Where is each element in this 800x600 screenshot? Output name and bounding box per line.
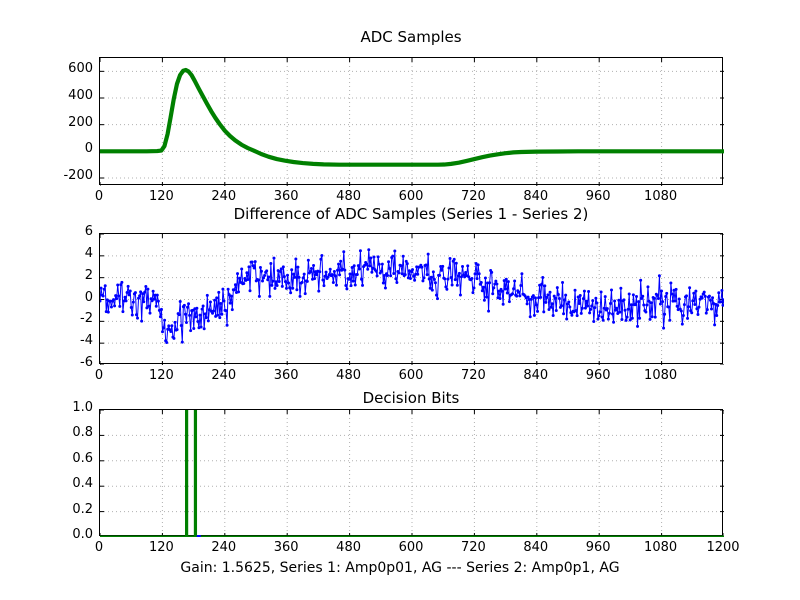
xtick-label: 120	[131, 189, 191, 204]
xtick-label: 600	[381, 540, 441, 555]
xtick-label: 840	[506, 368, 566, 383]
xtick-label: 0	[69, 368, 129, 383]
ytick-label: 0.6	[72, 451, 93, 466]
xtick-label: 1080	[631, 189, 691, 204]
decision-pulse	[186, 410, 188, 537]
ytick-label: 0.4	[72, 476, 93, 491]
plot-canvas-2	[100, 234, 724, 365]
xtick-label: 720	[443, 189, 503, 204]
ytick-label: 1.0	[72, 400, 93, 415]
xtick-label: 480	[319, 368, 379, 383]
plot-area-1	[99, 57, 723, 185]
gridlines	[100, 410, 724, 537]
xtick-label: 120	[131, 540, 191, 555]
xtick-label: 840	[506, 540, 566, 555]
plot-canvas-1	[100, 58, 724, 186]
xtick-label: 960	[568, 540, 628, 555]
ytick-label: 2	[85, 268, 93, 283]
xtick-label: 600	[381, 189, 441, 204]
subplot-title-2: Difference of ADC Samples (Series 1 - Se…	[99, 205, 723, 223]
tick-marks	[100, 410, 724, 537]
figure-xlabel: Gain: 1.5625, Series 1: Amp0p01, AG --- …	[0, 560, 800, 576]
xtick-label: 720	[443, 540, 503, 555]
gridlines	[100, 234, 724, 365]
plot-area-3	[99, 409, 723, 536]
ytick-label: 4	[85, 246, 93, 261]
ytick-label: 6	[85, 224, 93, 239]
xtick-label: 960	[568, 189, 628, 204]
ytick-label: -200	[63, 168, 93, 183]
plot-canvas-3	[100, 410, 724, 537]
subplot-title-3: Decision Bits	[99, 389, 723, 407]
xtick-label: 480	[319, 189, 379, 204]
xtick-label: 1080	[631, 368, 691, 383]
ytick-label: 200	[68, 115, 93, 130]
xtick-label: 720	[443, 368, 503, 383]
figure-canvas: ADC Samples-2000200400600012024036048060…	[0, 0, 800, 600]
xtick-label: 480	[319, 540, 379, 555]
ytick-label: 600	[68, 61, 93, 76]
ytick-label: 0	[85, 290, 93, 305]
xtick-label: 1200	[693, 540, 753, 555]
ytick-label: 0.8	[72, 425, 93, 440]
plot-area-2	[99, 233, 723, 364]
xtick-label: 0	[69, 540, 129, 555]
ytick-label: -2	[80, 311, 93, 326]
xtick-label: 1080	[631, 540, 691, 555]
subplot-title-1: ADC Samples	[99, 28, 723, 46]
ytick-label: -4	[80, 333, 93, 348]
xtick-label: 0	[69, 189, 129, 204]
ytick-label: 0.2	[72, 502, 93, 517]
decision-marker-blue	[197, 535, 201, 537]
xtick-label: 360	[256, 368, 316, 383]
xtick-label: 840	[506, 189, 566, 204]
xtick-label: 600	[381, 368, 441, 383]
xtick-label: 360	[256, 189, 316, 204]
xtick-label: 960	[568, 368, 628, 383]
xtick-label: 240	[194, 189, 254, 204]
xtick-label: 240	[194, 540, 254, 555]
ytick-label: 400	[68, 88, 93, 103]
xtick-label: 240	[194, 368, 254, 383]
ytick-label: 0	[85, 141, 93, 156]
xtick-label: 360	[256, 540, 316, 555]
data-series-group	[100, 410, 724, 537]
decision-pulse	[195, 410, 197, 537]
xtick-label: 120	[131, 368, 191, 383]
